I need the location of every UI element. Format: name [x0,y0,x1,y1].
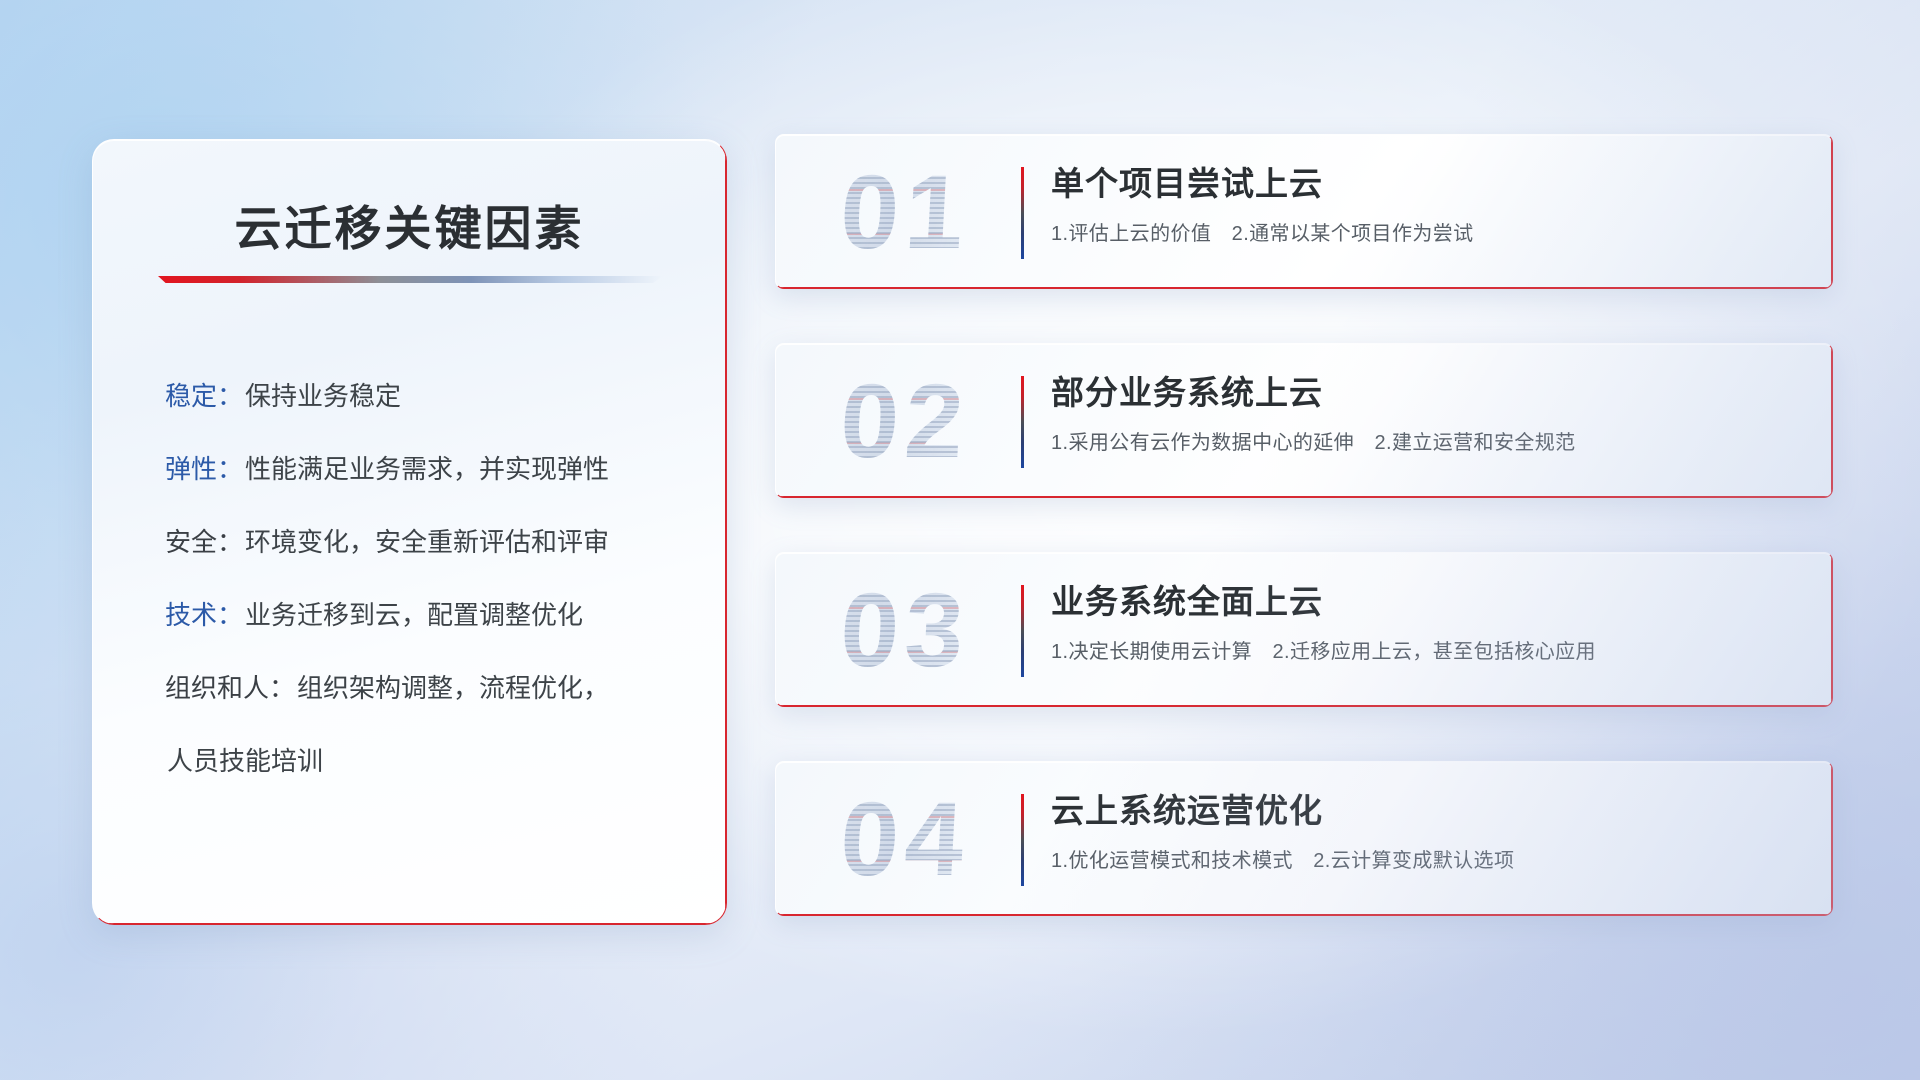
factor-row: 技术：业务迁移到云，配置调整优化 [165,579,686,652]
factor-list: 稳定：保持业务稳定弹性：性能满足业务需求，并实现弹性安全：环境变化，安全重新评估… [165,360,686,798]
factor-description: 组织架构调整，流程优化， [297,673,609,703]
stage-card-list: 01单个项目尝试上云1.评估上云的价值 2.通常以某个项目作为尝试02部分业务系… [775,134,1835,970]
factor-row: 人员技能培训 [165,725,686,798]
stage-number-watermark: 01 [807,147,1004,279]
accent-bar [1021,167,1024,259]
factor-row: 安全：环境变化，安全重新评估和评审 [165,506,686,579]
stage-title: 云上系统运营优化 [1051,788,1792,834]
factor-label: 组织和人： [165,673,295,703]
factor-description: 保持业务稳定 [245,381,401,411]
factor-label: 技术： [165,600,243,630]
stage-card[interactable]: 02部分业务系统上云1.采用公有云作为数据中心的延伸 2.建立运营和安全规范 [775,343,1833,498]
stage-subtitle: 1.决定长期使用云计算 2.迁移应用上云，甚至包括核心应用 [1051,638,1792,666]
stage-subtitle: 1.优化运营模式和技术模式 2.云计算变成默认选项 [1051,847,1792,875]
accent-bar [1021,585,1024,677]
accent-bar [1021,794,1024,886]
slide-canvas: 云迁移关键因素 稳定：保持业务稳定弹性：性能满足业务需求，并实现弹性安全：环境变… [0,0,1920,1080]
stage-card-body: 部分业务系统上云1.采用公有云作为数据中心的延伸 2.建立运营和安全规范 [1051,370,1792,457]
factor-description: 人员技能培训 [167,746,323,776]
factor-label: 安全： [165,527,243,557]
stage-card-body: 单个项目尝试上云1.评估上云的价值 2.通常以某个项目作为尝试 [1051,161,1792,248]
factor-description: 业务迁移到云，配置调整优化 [245,600,583,630]
stage-title: 单个项目尝试上云 [1051,161,1792,207]
stage-subtitle: 1.评估上云的价值 2.通常以某个项目作为尝试 [1051,220,1792,248]
stage-title: 业务系统全面上云 [1051,579,1792,625]
stage-card-body: 业务系统全面上云1.决定长期使用云计算 2.迁移应用上云，甚至包括核心应用 [1051,579,1792,666]
stage-card[interactable]: 01单个项目尝试上云1.评估上云的价值 2.通常以某个项目作为尝试 [775,134,1833,289]
stage-card[interactable]: 03业务系统全面上云1.决定长期使用云计算 2.迁移应用上云，甚至包括核心应用 [775,552,1833,707]
stage-number-watermark: 04 [807,774,1004,906]
stage-card-body: 云上系统运营优化1.优化运营模式和技术模式 2.云计算变成默认选项 [1051,788,1792,875]
stage-number-watermark: 02 [807,356,1004,488]
factor-description: 环境变化，安全重新评估和评审 [245,527,609,557]
accent-bar [1021,376,1024,468]
title-underline-rule [158,276,663,283]
stage-subtitle: 1.采用公有云作为数据中心的延伸 2.建立运营和安全规范 [1051,429,1792,457]
factor-row: 组织和人：组织架构调整，流程优化， [165,652,686,725]
key-factors-panel: 云迁移关键因素 稳定：保持业务稳定弹性：性能满足业务需求，并实现弹性安全：环境变… [92,139,727,925]
stage-title: 部分业务系统上云 [1051,370,1792,416]
stage-number-watermark: 03 [807,565,1004,697]
factor-description: 性能满足业务需求，并实现弹性 [245,454,609,484]
factor-label: 稳定： [165,381,243,411]
factor-row: 稳定：保持业务稳定 [165,360,686,433]
stage-card[interactable]: 04云上系统运营优化1.优化运营模式和技术模式 2.云计算变成默认选项 [775,761,1833,916]
factor-label: 弹性： [165,454,243,484]
page-title: 云迁移关键因素 [93,190,726,259]
factor-row: 弹性：性能满足业务需求，并实现弹性 [165,433,686,506]
